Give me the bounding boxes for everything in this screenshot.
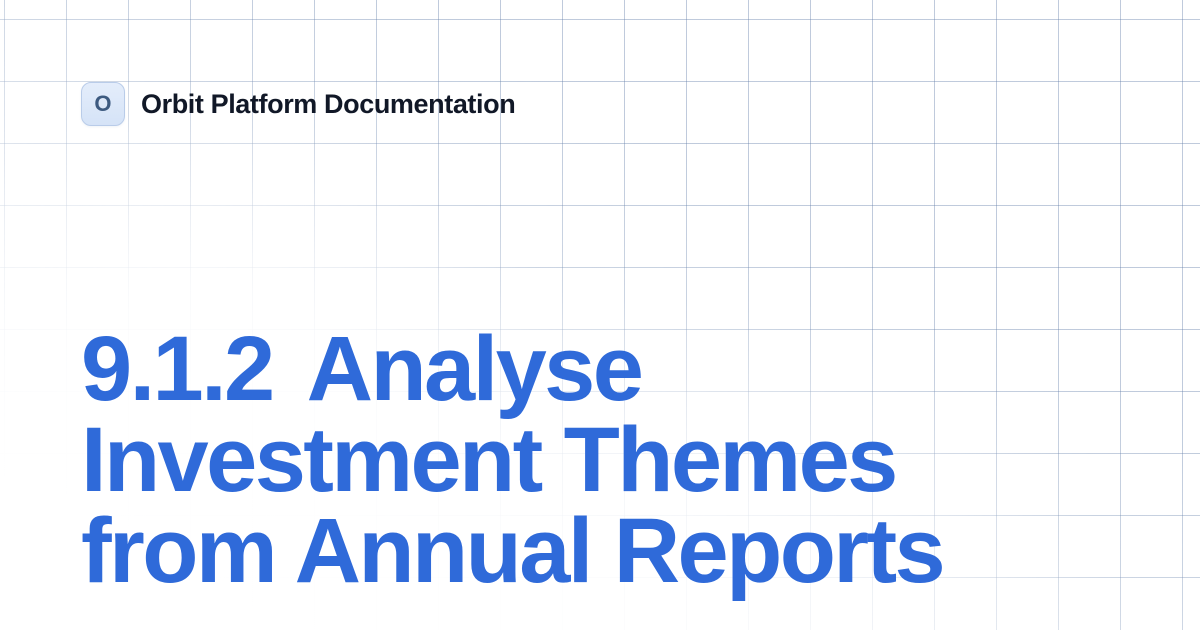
headline-line-3: from Annual Reports xyxy=(81,506,1121,597)
brand-row: O Orbit Platform Documentation xyxy=(81,82,515,126)
brand-badge-letter: O xyxy=(94,93,111,115)
orbit-logo-icon: O xyxy=(81,82,125,126)
section-number: 9.1.2 xyxy=(81,324,273,415)
brand-title: Orbit Platform Documentation xyxy=(141,89,515,120)
social-card: O Orbit Platform Documentation 9.1.2Anal… xyxy=(0,0,1200,630)
headline-line-2: Investment Themes xyxy=(81,415,1121,506)
headline-word-1: Analyse xyxy=(307,318,642,420)
card-content: O Orbit Platform Documentation 9.1.2Anal… xyxy=(0,0,1200,630)
page-title: 9.1.2Analyse Investment Themes from Annu… xyxy=(81,324,1121,597)
headline-line-1: 9.1.2Analyse xyxy=(81,324,1121,415)
